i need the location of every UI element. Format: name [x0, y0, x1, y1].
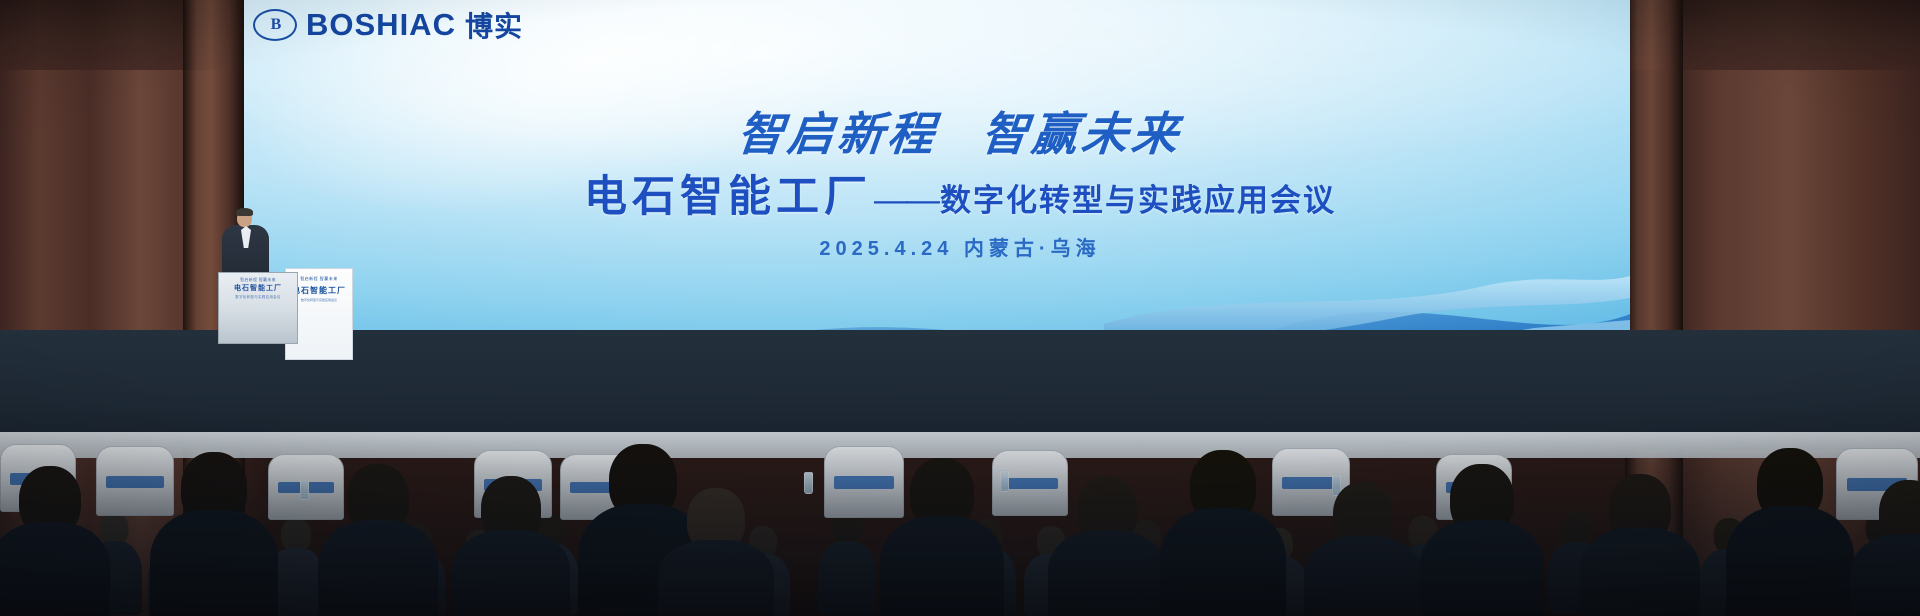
- audience-person-front: [1580, 474, 1700, 616]
- audience-person-front: [880, 458, 1004, 616]
- person-torso: [1850, 534, 1920, 616]
- water-bottle: [300, 478, 309, 500]
- speaker-hair: [236, 208, 253, 216]
- audience-person-front: [1048, 476, 1166, 616]
- person-torso: [1304, 536, 1422, 616]
- audience-person-front: [1304, 482, 1422, 616]
- event-title-sub: 数字化转型与实践应用会议: [940, 175, 1336, 220]
- logo-english-text: BOSHIAC: [306, 7, 456, 43]
- person-torso: [1726, 506, 1854, 616]
- podium-sign-line-1: 智启新程 智赢未来: [225, 277, 291, 283]
- audience-person-front: [1160, 450, 1286, 616]
- audience-person-front: [1726, 448, 1854, 616]
- boshiac-logo-icon: B: [253, 9, 297, 41]
- event-title-main: 电石智能工厂: [584, 162, 872, 224]
- person-torso: [818, 541, 876, 615]
- person-torso: [880, 516, 1004, 616]
- audience-person-front: [318, 464, 438, 616]
- audience-person-front: [658, 488, 774, 616]
- audience-person-front: [452, 476, 570, 616]
- event-slogan: 智启新程 智赢未来: [0, 98, 1920, 164]
- audience-person-front: [1850, 480, 1920, 616]
- event-title: 电石智能工厂 —— 数字化转型与实践应用会议: [0, 162, 1920, 224]
- audience-person-front: [1420, 464, 1544, 616]
- audience-person-front: [150, 452, 278, 616]
- podium-sign: 智启新程 智赢未来 电石智能工厂 数字化转型与实践应用会议: [225, 277, 291, 300]
- person-torso: [318, 520, 438, 616]
- podium-sign-line-2: 电石智能工厂: [225, 283, 291, 294]
- person-torso: [1420, 520, 1544, 616]
- conference-photo: B BOSHIAC 博实 智启新程 智赢未来 电石智能工厂 —— 数字化转型与实…: [0, 0, 1920, 616]
- company-logo: B BOSHIAC 博实: [253, 5, 523, 45]
- person-torso: [150, 510, 278, 616]
- person-torso: [1048, 530, 1166, 616]
- logo-chinese-text: 博实: [465, 5, 523, 45]
- slogan-left: 智启新程: [735, 98, 942, 164]
- person-torso: [0, 522, 110, 616]
- slogan-right: 智赢未来: [978, 98, 1185, 164]
- person-torso: [1580, 528, 1700, 616]
- event-date-location: 2025.4.24 内蒙古·乌海: [0, 232, 1920, 261]
- person-torso: [452, 530, 570, 616]
- person-head: [281, 518, 311, 552]
- water-bottle: [804, 472, 813, 494]
- event-title-dash: ——: [874, 181, 938, 220]
- podium-sign-line-3: 数字化转型与实践应用会议: [225, 295, 291, 301]
- audience-person: [818, 510, 876, 616]
- person-torso: [1160, 508, 1286, 616]
- audience-person-front: [0, 466, 110, 616]
- person-torso: [658, 540, 774, 616]
- audience-area: [0, 316, 1920, 616]
